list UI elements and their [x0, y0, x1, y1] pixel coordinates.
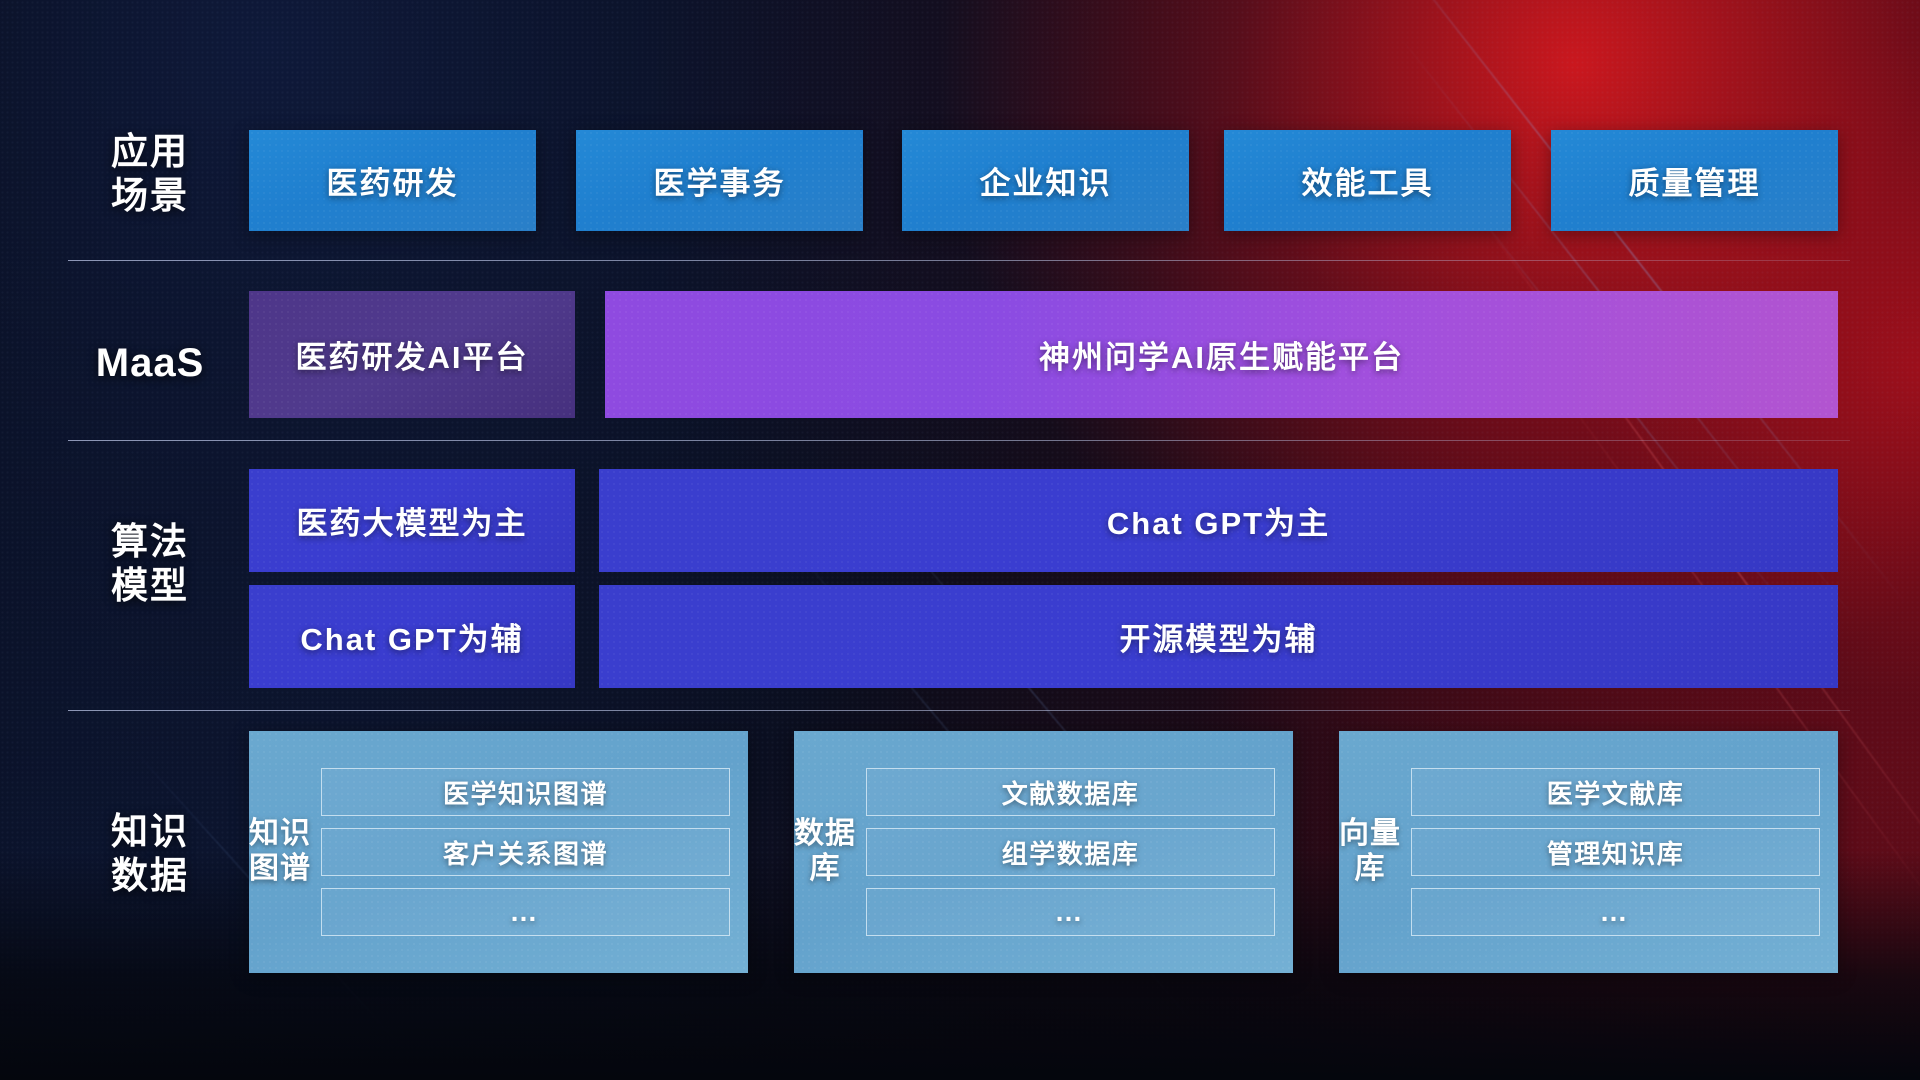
knowledge-item[interactable]: 客户关系图谱 [321, 828, 730, 876]
knowledge-item[interactable]: 医学文献库 [1411, 768, 1820, 816]
knowledge-item[interactable]: 组学数据库 [866, 828, 1275, 876]
divider-after-application-scenarios [68, 260, 1850, 261]
knowledge-group-title: 数据库 [794, 731, 856, 973]
tier-label-maas: MaaS [55, 340, 245, 387]
knowledge-group-title: 知识图谱 [249, 731, 311, 973]
app-card-label: 企业知识 [980, 158, 1112, 203]
app-card-enterprise-knowledge[interactable]: 企业知识 [902, 130, 1189, 231]
knowledge-group-vector-store[interactable]: 向量库 医学文献库 管理知识库 … [1339, 731, 1838, 973]
maas-card-label: 医药研发AI平台 [296, 332, 529, 377]
algo-card-label: 开源模型为辅 [1120, 614, 1318, 659]
knowledge-group-items: 医学知识图谱 客户关系图谱 … [311, 731, 748, 973]
tier-label-line2: 数据 [55, 854, 245, 898]
app-card-medical-rd[interactable]: 医药研发 [249, 130, 536, 231]
tier-label-knowledge-data: 知识 数据 [55, 810, 245, 897]
tier-label-text: MaaS [55, 340, 245, 387]
app-card-label: 质量管理 [1629, 158, 1761, 203]
algo-card-label: 医药大模型为主 [297, 498, 528, 543]
app-card-label: 医学事务 [654, 158, 786, 203]
maas-card-shenzhou-wenxue-platform[interactable]: 神州问学AI原生赋能平台 [605, 291, 1838, 418]
knowledge-item-more[interactable]: … [321, 888, 730, 936]
tier-label-line2: 模型 [55, 564, 245, 608]
knowledge-group-knowledge-graph[interactable]: 知识图谱 医学知识图谱 客户关系图谱 … [249, 731, 748, 973]
algo-card-pharma-llm-primary[interactable]: 医药大模型为主 [249, 469, 575, 572]
tier-label-line1: 算法 [55, 520, 245, 564]
knowledge-group-items: 医学文献库 管理知识库 … [1401, 731, 1838, 973]
algo-card-chatgpt-primary[interactable]: Chat GPT为主 [599, 469, 1838, 572]
knowledge-item[interactable]: 文献数据库 [866, 768, 1275, 816]
tier-label-line2: 场景 [55, 174, 245, 218]
knowledge-item-more[interactable]: … [1411, 888, 1820, 936]
algo-card-chatgpt-secondary[interactable]: Chat GPT为辅 [249, 585, 575, 688]
algo-card-label: Chat GPT为辅 [300, 614, 523, 659]
tier-label-algorithm-models: 算法 模型 [55, 520, 245, 607]
divider-after-maas [68, 440, 1850, 441]
app-card-efficiency-tools[interactable]: 效能工具 [1224, 130, 1511, 231]
tier-label-line1: 知识 [55, 810, 245, 854]
tier-label-line1: 应用 [55, 130, 245, 174]
divider-after-algorithm-models [68, 710, 1850, 711]
knowledge-item[interactable]: 医学知识图谱 [321, 768, 730, 816]
knowledge-group-database[interactable]: 数据库 文献数据库 组学数据库 … [794, 731, 1293, 973]
maas-card-pharma-ai-platform[interactable]: 医药研发AI平台 [249, 291, 575, 418]
app-card-label: 效能工具 [1302, 158, 1434, 203]
knowledge-group-title: 向量库 [1339, 731, 1401, 973]
app-card-medical-affairs[interactable]: 医学事务 [576, 130, 863, 231]
app-card-label: 医药研发 [327, 158, 459, 203]
algo-card-opensource-secondary[interactable]: 开源模型为辅 [599, 585, 1838, 688]
knowledge-item-more[interactable]: … [866, 888, 1275, 936]
architecture-diagram: 应用 场景 医药研发 医学事务 企业知识 效能工具 质量管理 MaaS 医药研发… [0, 0, 1920, 1080]
maas-card-label: 神州问学AI原生赋能平台 [1039, 332, 1404, 377]
app-card-quality-management[interactable]: 质量管理 [1551, 130, 1838, 231]
knowledge-group-items: 文献数据库 组学数据库 … [856, 731, 1293, 973]
algo-card-label: Chat GPT为主 [1107, 498, 1330, 543]
tier-label-application-scenarios: 应用 场景 [55, 130, 245, 217]
knowledge-item[interactable]: 管理知识库 [1411, 828, 1820, 876]
